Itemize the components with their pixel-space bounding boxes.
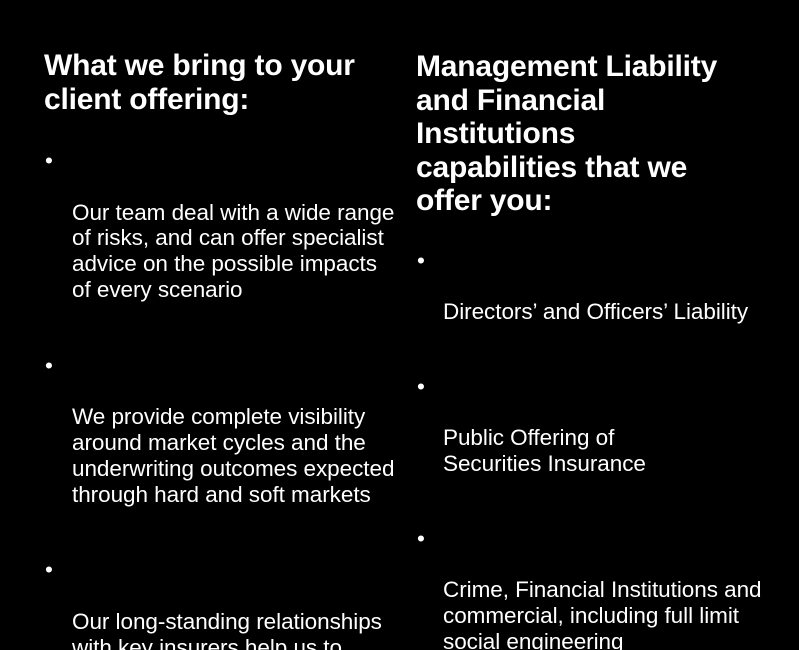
list-item: • We provide complete visibility around … — [44, 353, 396, 534]
left-column-bullet-list: • Our team deal with a wide range of ris… — [44, 148, 396, 650]
list-item-text: Our long-standing relationships with key… — [72, 609, 396, 650]
bullet-point-icon: • — [45, 557, 65, 583]
list-item-text: Public Offering of Securities Insurance — [443, 425, 768, 477]
left-column-heading: What we bring to your client offering: — [44, 0, 396, 116]
list-item: • Directors’ and Officers’ Liability — [416, 248, 768, 351]
right-column-heading: Management Liability and Financial Insti… — [416, 0, 768, 218]
list-item: • Our team deal with a wide range of ris… — [44, 148, 396, 329]
right-column: Management Liability and Financial Insti… — [416, 0, 768, 650]
list-item-text: Directors’ and Officers’ Liability — [443, 299, 768, 325]
list-item-text: We provide complete visibility around ma… — [72, 404, 396, 507]
bullet-point-icon: • — [417, 526, 437, 552]
bullet-point-icon: • — [45, 353, 65, 379]
list-item-text: Crime, Financial Institutions and commer… — [443, 577, 768, 650]
bullet-point-icon: • — [417, 248, 437, 274]
presentation-slide: What we bring to your client offering: •… — [0, 0, 799, 650]
list-item: • Our long-standing relationships with k… — [44, 557, 396, 650]
bullet-point-icon: • — [45, 148, 65, 174]
bullet-point-icon: • — [417, 374, 437, 400]
list-item-text: Our team deal with a wide range of risks… — [72, 200, 396, 303]
list-item: • Public Offering of Securities Insuranc… — [416, 374, 768, 503]
right-column-bullet-list: • Directors’ and Officers’ Liability • P… — [416, 248, 768, 650]
list-item: • Crime, Financial Institutions and comm… — [416, 526, 768, 650]
left-column: What we bring to your client offering: •… — [44, 0, 396, 650]
